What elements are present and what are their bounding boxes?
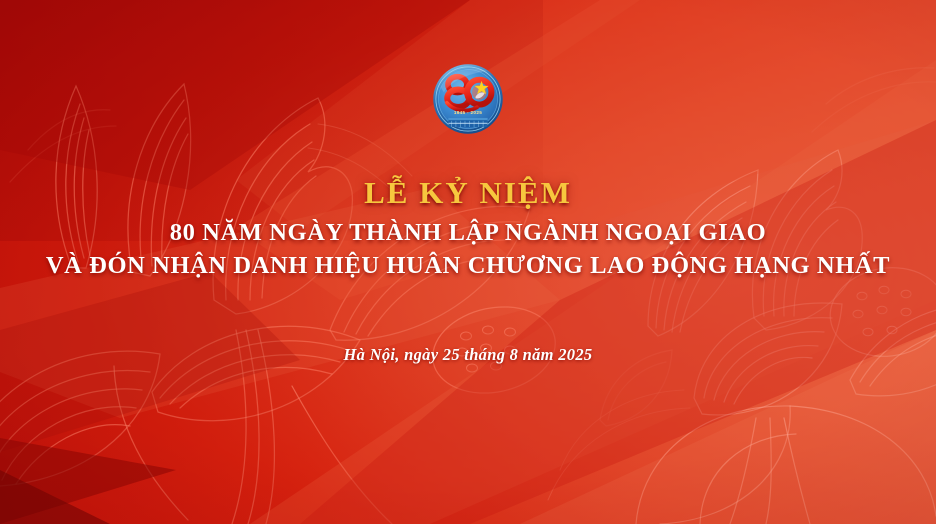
banner-content: 1945 - 2025 — [0, 0, 936, 524]
page-title-line-3: VÀ ĐÓN NHẬN DANH HIỆU HUÂN CHƯƠNG LAO ĐỘ… — [0, 252, 936, 279]
page-title-line-2: 80 NĂM NGÀY THÀNH LẬP NGÀNH NGOẠI GIAO — [0, 219, 936, 246]
anniversary-emblem-80: 1945 - 2025 — [430, 62, 506, 136]
page-title-main: LỄ KỶ NIỆM — [0, 176, 936, 209]
event-date-location: Hà Nội, ngày 25 tháng 8 năm 2025 — [0, 345, 936, 365]
emblem-ribbon — [448, 118, 487, 127]
anniversary-banner: 1945 - 2025 — [0, 0, 936, 524]
emblem-years-label: 1945 - 2025 — [454, 110, 482, 115]
title-block: LỄ KỶ NIỆM 80 NĂM NGÀY THÀNH LẬP NGÀNH N… — [0, 176, 936, 279]
